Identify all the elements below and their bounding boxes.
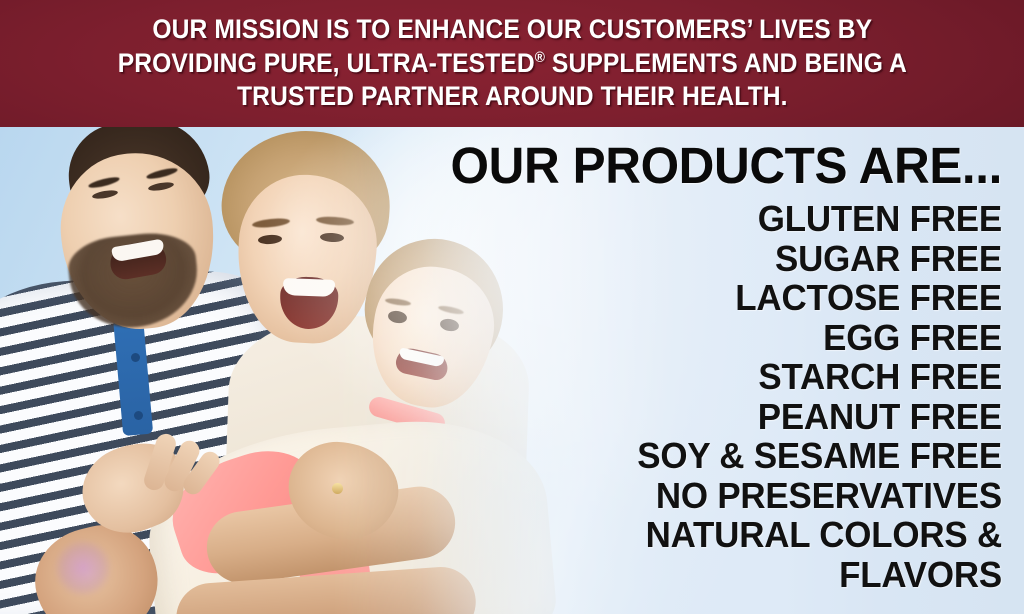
mission-statement-text: OUR MISSION IS TO ENHANCE OUR CUSTOMERS’… bbox=[117, 13, 906, 114]
ring bbox=[332, 483, 343, 494]
product-benefit-list: GLUTEN FREE SUGAR FREE LACTOSE FREE EGG … bbox=[384, 199, 1002, 594]
marketing-poster: OUR MISSION IS TO ENHANCE OUR CUSTOMERS’… bbox=[0, 0, 1024, 614]
woman-teeth bbox=[283, 278, 336, 297]
mission-statement-banner: OUR MISSION IS TO ENHANCE OUR CUSTOMERS’… bbox=[0, 0, 1024, 127]
benefit-item: GLUTEN FREE bbox=[403, 199, 1002, 239]
benefit-item: SUGAR FREE bbox=[403, 239, 1002, 279]
benefit-item: SOY & SESAME FREE bbox=[403, 436, 1002, 476]
shirt-button bbox=[134, 411, 143, 420]
lens-flare bbox=[54, 539, 112, 597]
benefit-item: EGG FREE bbox=[403, 318, 1002, 358]
products-headline: OUR PRODUCTS ARE... bbox=[403, 139, 1002, 193]
benefit-item: NO PRESERVATIVES bbox=[403, 476, 1002, 516]
product-claims-panel: OUR PRODUCTS ARE... GLUTEN FREE SUGAR FR… bbox=[384, 127, 1024, 614]
benefit-item: STARCH FREE bbox=[403, 357, 1002, 397]
benefit-item: NATURAL COLORS & bbox=[403, 515, 1002, 555]
shirt-button bbox=[131, 353, 140, 362]
benefit-item: FLAVORS bbox=[403, 555, 1002, 595]
benefit-item: LACTOSE FREE bbox=[403, 278, 1002, 318]
benefit-item: PEANUT FREE bbox=[403, 397, 1002, 437]
registered-trademark-icon: ® bbox=[534, 50, 544, 66]
